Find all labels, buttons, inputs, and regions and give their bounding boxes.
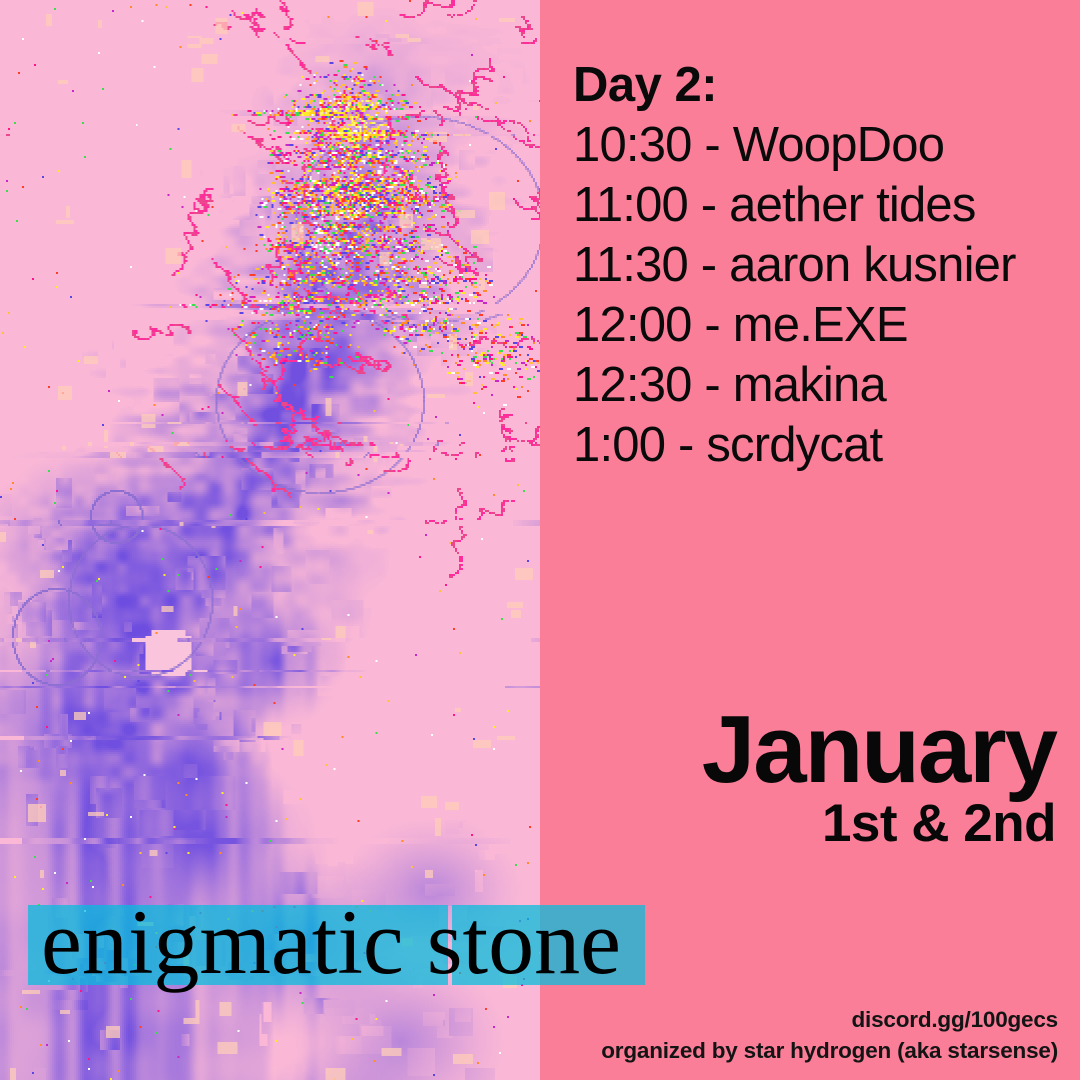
poster: Day 2: 10:30 - WoopDoo 11:00 - aether ti… <box>0 0 1080 1080</box>
schedule-item: 12:00 - me.EXE <box>573 295 1073 355</box>
schedule-heading: Day 2: <box>573 55 1073 115</box>
event-logo: enigmatic stone <box>0 896 700 996</box>
schedule-item: 1:00 - scrdycat <box>573 415 1073 475</box>
schedule-item: 12:30 - makina <box>573 355 1073 415</box>
event-date: January 1st & 2nd <box>702 706 1056 852</box>
discord-invite-link[interactable]: discord.gg/100gecs <box>601 1004 1058 1035</box>
schedule-item: 11:30 - aaron kusnier <box>573 235 1073 295</box>
logo-text: enigmatic stone <box>41 892 621 992</box>
footer-credits: discord.gg/100gecs organized by star hyd… <box>601 1004 1058 1066</box>
organizer-credit: organized by star hydrogen (aka starsens… <box>601 1035 1058 1066</box>
schedule-item: 10:30 - WoopDoo <box>573 115 1073 175</box>
schedule-list: Day 2: 10:30 - WoopDoo 11:00 - aether ti… <box>573 55 1073 475</box>
schedule-item: 11:00 - aether tides <box>573 175 1073 235</box>
event-days: 1st & 2nd <box>702 796 1056 852</box>
event-month: January <box>702 706 1056 794</box>
